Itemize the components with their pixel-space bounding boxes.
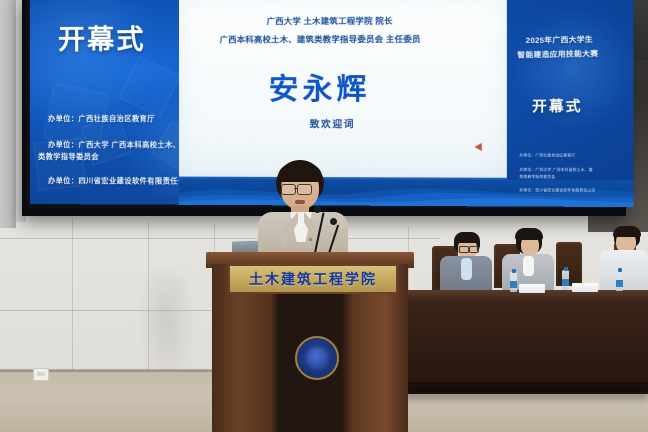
left-panel-organizer-line-2: 办单位：广西大学 广西本科高校土木、建 [48, 140, 188, 150]
speaker-hair-front [278, 164, 322, 182]
slide-speaker-role: 致欢迎词 [310, 116, 355, 130]
microphone-head [330, 218, 337, 225]
podium-nameplate: 土木建筑工程学院 [228, 264, 398, 294]
right-panel-organizer-line-2: 办单位：广西大学 广西本科高校土木、建 [519, 168, 592, 173]
glasses-icon [297, 184, 312, 195]
glasses-icon [469, 246, 479, 253]
right-panel-organizer-line-3: 筑类教学指导委员会 [519, 175, 555, 180]
wall-seam [0, 238, 440, 239]
podium-nameplate-text: 土木建筑工程学院 [249, 269, 377, 289]
power-outlet [33, 368, 49, 381]
right-panel-heading: 开幕式 [532, 96, 583, 117]
panel-table-front [406, 300, 648, 394]
university-emblem-icon [295, 336, 339, 380]
screen-right-panel: 2025年广西大学生 智能建造应用技能大赛 开幕式 办单位：广西壮族自治区教育厅… [507, 0, 634, 207]
slide-affiliation-line-1: 广西大学 土木建筑工程学院 院长 [267, 14, 393, 27]
panelist-1 [440, 232, 492, 294]
left-panel-organizer-line-1: 办单位：广西壮族自治区教育厅 [48, 114, 155, 124]
emblem-inner [307, 348, 327, 368]
wall-seam [72, 218, 73, 378]
panelist-3 [600, 226, 648, 294]
left-panel-organizer-line-3: 类教学指导委员会 [38, 152, 99, 162]
speaker-mouth [295, 200, 305, 204]
screenshot-root: 开幕式 办单位：广西壮族自治区教育厅 办单位：广西大学 广西本科高校土木、建 类… [0, 0, 648, 432]
right-panel-organizer-line-1: 办单位：广西壮族自治区教育厅 [519, 153, 575, 158]
jacket-button [309, 238, 312, 241]
water-bottle [562, 270, 569, 290]
table-shadow [406, 390, 648, 400]
microphone-head [314, 206, 321, 213]
red-triangle-marker-icon [474, 143, 481, 151]
water-bottle [510, 272, 517, 292]
glasses-bridge [294, 188, 298, 189]
right-panel-event-line-1: 2025年广西大学生 [526, 34, 593, 47]
right-panel-event-line-2: 智能建造应用技能大赛 [517, 48, 598, 61]
left-panel-heading: 开幕式 [58, 18, 146, 57]
glasses-icon [459, 246, 469, 253]
presentation-slide: 广西大学 土木建筑工程学院 院长 广西本科高校土木、建筑类教学指导委员会 主任委… [179, 0, 507, 180]
nameplate [572, 283, 598, 292]
glasses-icon [281, 184, 296, 195]
speaker-person [252, 160, 362, 264]
left-panel-organizer-line-4: 办单位：四川省宏业建设软件有限责任公司 [48, 176, 193, 187]
nameplate [519, 284, 545, 293]
slide-speaker-name: 安永辉 [269, 65, 371, 108]
right-panel-organizer-line-4: 办单位：四川省宏业建设软件有限责任公司 [519, 188, 595, 193]
chair [556, 242, 582, 286]
water-bottle [616, 271, 623, 291]
slide-affiliation-line-2: 广西本科高校土木、建筑类教学指导委员会 主任委员 [220, 33, 421, 46]
wall-column-left [0, 0, 16, 228]
